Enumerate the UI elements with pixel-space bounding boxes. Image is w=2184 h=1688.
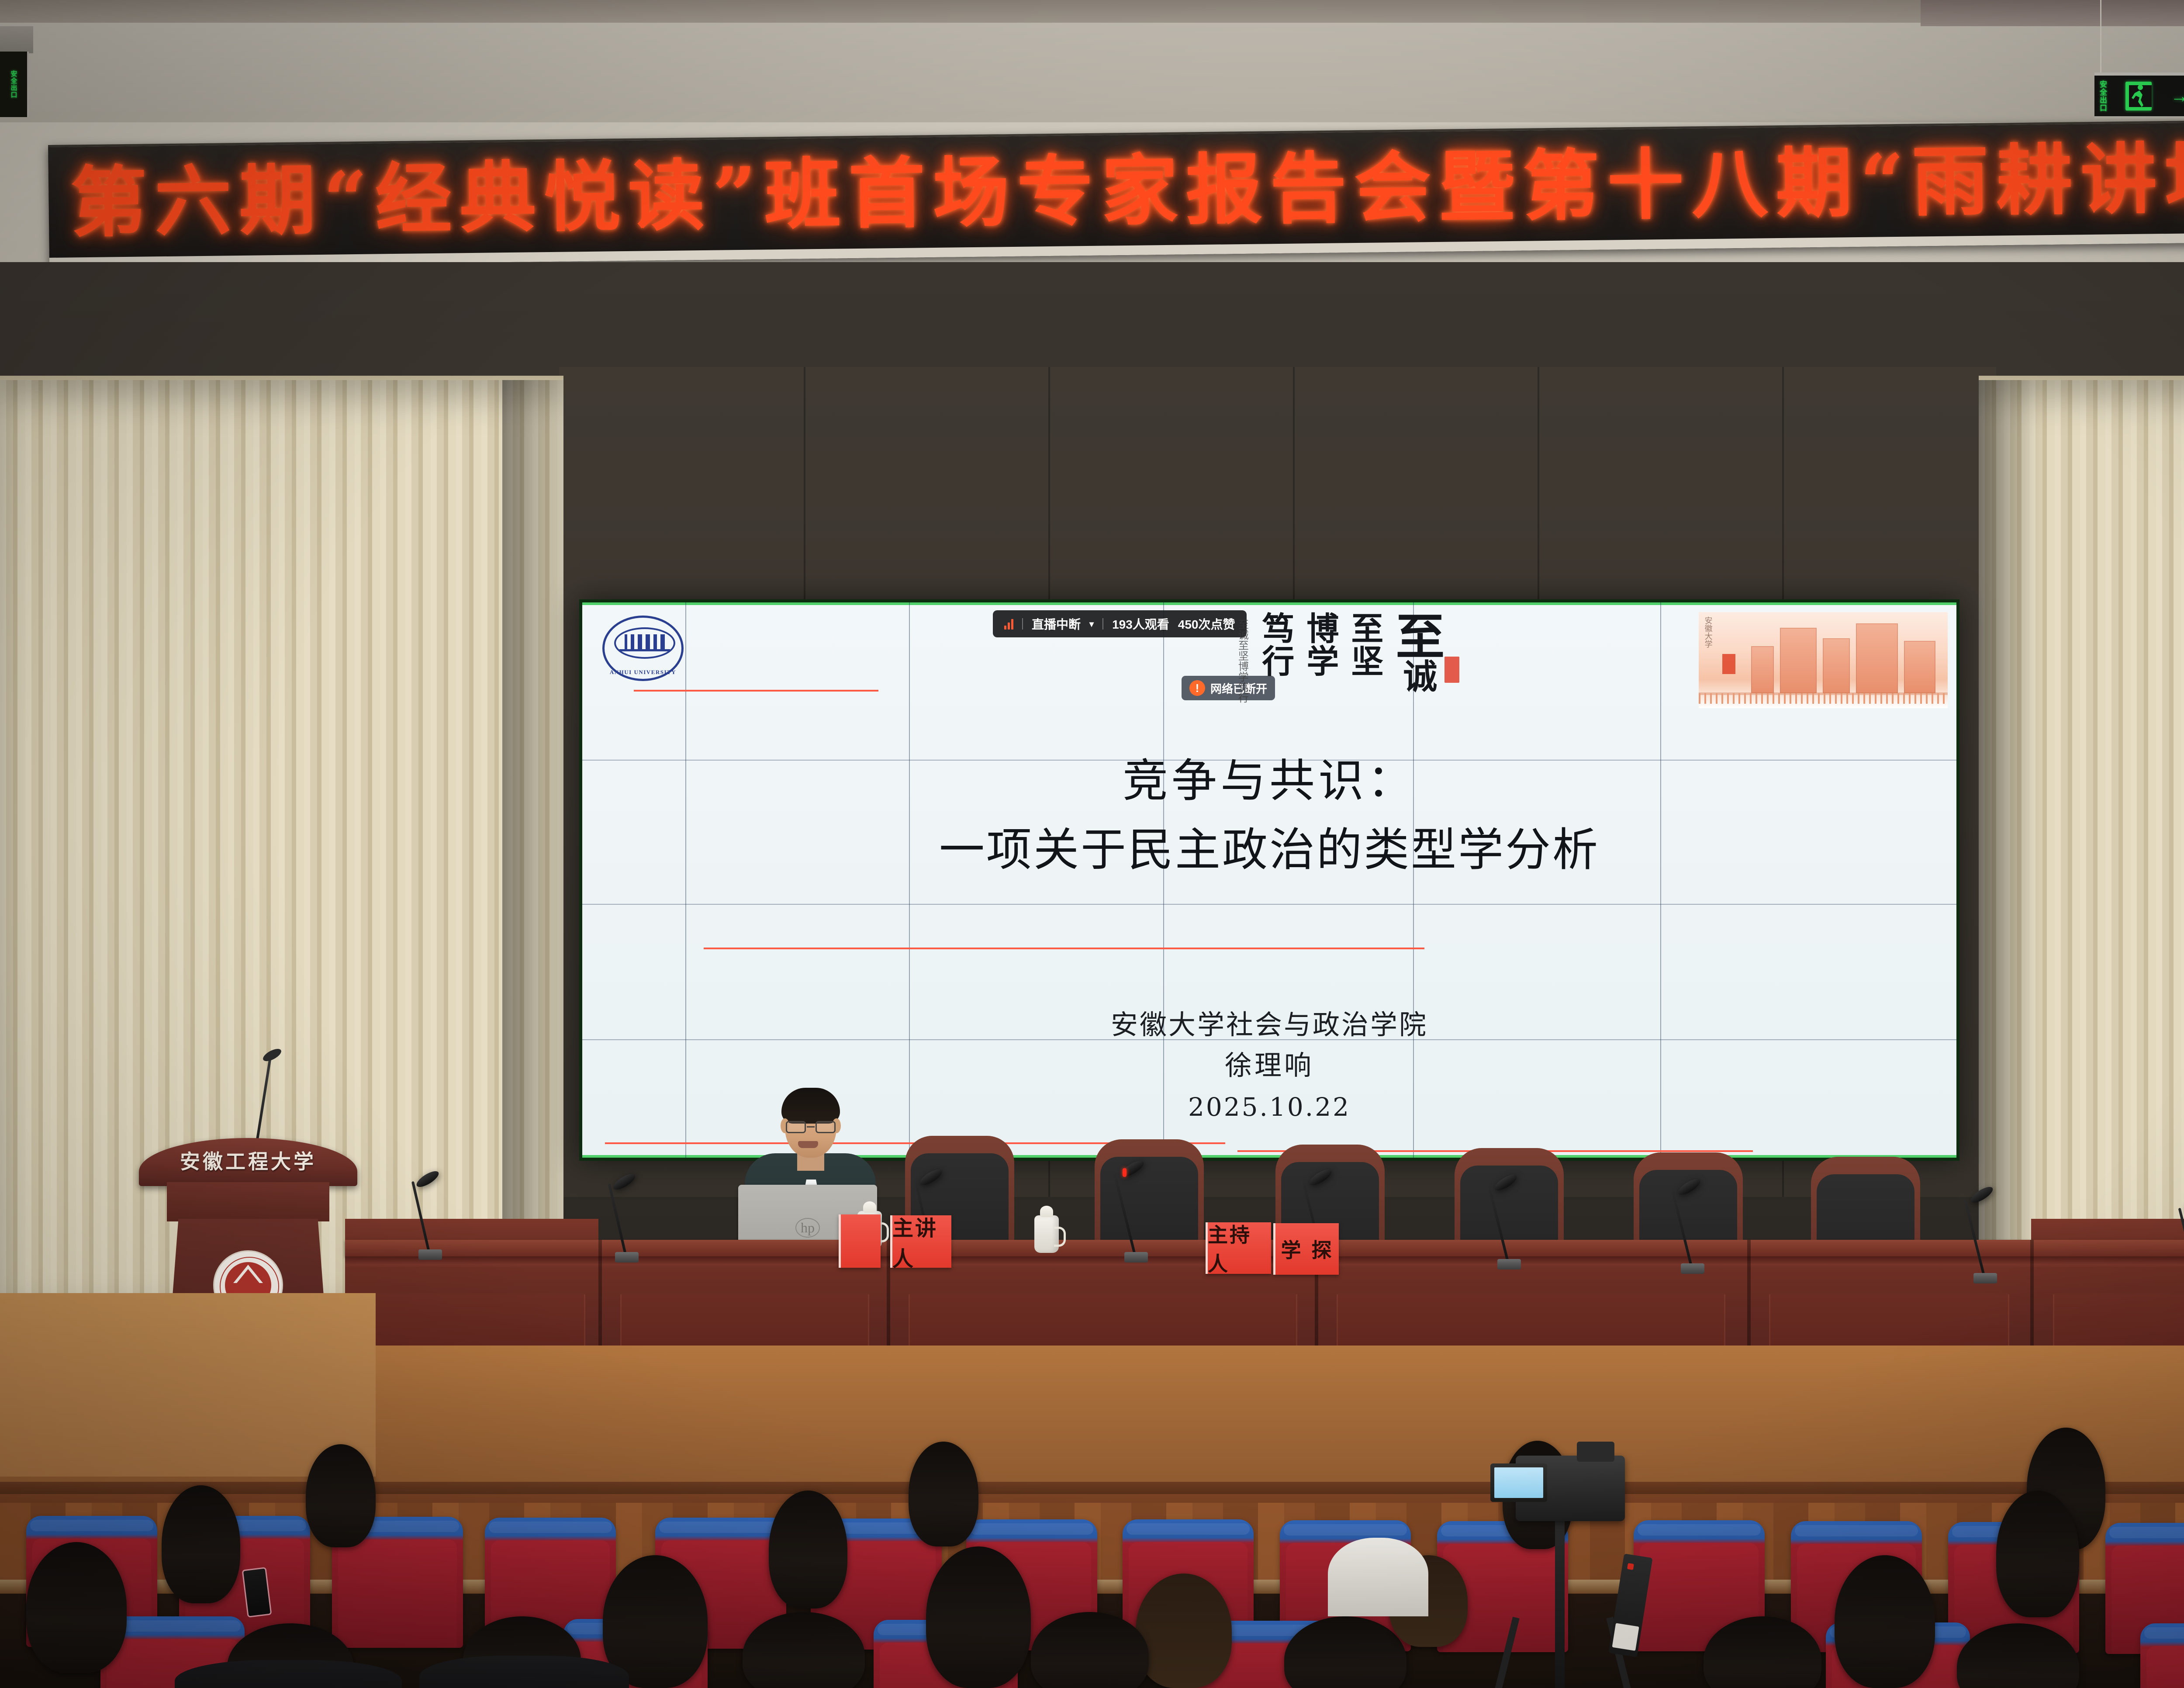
lecture-hall-photo: 安全出口 第六期“经典悦读”班首场专家报告会暨第十八期“雨耕讲坛”讲座 安全出口 [0,0,2184,1688]
livestream-toolbar[interactable]: 直播中断 ▾ 193人观看 450次点赞 [993,610,1247,637]
exit-sign-left: 安全出口 [0,52,29,117]
audience-seat [2140,1623,2184,1688]
audience-head [909,1442,978,1546]
podium-neck [167,1182,329,1221]
motto-column: 笃 行 [1262,613,1294,679]
exit-sign-text: 安全出口 [2099,80,2106,112]
hp-logo-icon: hp [795,1218,820,1238]
stage-floor-left [0,1293,376,1477]
exit-sign-wires [2097,0,2184,79]
audience-head [306,1444,376,1547]
name-card-host: 主持人 [1206,1222,1271,1274]
ceiling-soffit [0,0,2184,23]
slide-title-line1: 竞争与共识： [582,747,1956,815]
slide-organization: 安徽大学社会与政治学院 [582,1004,1956,1045]
curtain-shadow [1979,380,2040,1293]
seal-english-text: ANHUI UNIVERSITY [605,669,681,676]
record-indicator-icon [1627,1563,1634,1570]
audience-head [1996,1491,2079,1617]
audience-shoulders [419,1656,629,1688]
divider [1102,618,1103,630]
motto-column: 至 诚 [1396,613,1444,694]
exit-sign-left-label: 安全出口 [9,70,18,98]
campus-caption: 安徽大学 [1703,616,1713,648]
slide-title-block: 竞争与共识： 一项关于民主政治的类型学分析 [582,747,1956,885]
university-motto-calligraphy: 至诚至坚博学笃行 笃 行 博 学 至 坚 至 诚 [1237,613,1525,703]
audience-shoulders [175,1660,402,1688]
audience-head [1835,1555,1935,1688]
exit-sign: 安全出口 → [2094,73,2184,118]
camera-handle [1577,1442,1614,1462]
motto-signature: 至诚至坚博学笃行 [1237,619,1248,703]
audience-shoulders [1328,1538,1428,1616]
audience-head [26,1542,127,1673]
seal-stamp-icon [1444,657,1459,683]
campus-stamp-icon [1722,654,1735,674]
name-card-speaker-blank [839,1214,881,1268]
led-banner-text: 第六期“经典悦读”班首场专家报告会暨第十八期“雨耕讲坛”讲座 [70,135,2184,245]
signal-bars-icon [1004,618,1013,630]
teacup [1034,1215,1059,1253]
audience-head [769,1491,847,1608]
name-card-speaker: 主讲人 [890,1215,951,1268]
audience-head [1136,1574,1232,1688]
tripod-column [1555,1512,1565,1688]
glasses-icon [785,1121,836,1134]
curtain-shadow [502,380,563,1293]
running-man-icon [2123,81,2154,111]
slide-title-line2: 一项关于民主政治的类型学分析 [582,815,1956,885]
livestream-status: 直播中断 [1032,615,1081,633]
chevron-down-icon[interactable]: ▾ [1089,619,1094,630]
alert-icon: ! [1189,680,1205,696]
livestream-viewers: 193人观看 [1112,615,1169,633]
audience-head [162,1485,240,1603]
camera-lcd-screen [1490,1463,1547,1502]
campus-photo-strip: 安徽大学 [1699,612,1948,708]
motto-column: 博 学 [1306,613,1339,679]
name-card-host-name: 学 探 [1273,1223,1339,1275]
anhui-university-seal-icon: ANHUI UNIVERSITY [602,616,684,681]
exit-sign-bracket [0,26,33,53]
podium-header-text: 安徽工程大学 [180,1146,316,1175]
livestream-likes: 450次点赞 [1178,615,1235,633]
motto-column: 至 坚 [1351,613,1383,679]
divider [1022,618,1023,630]
audience-head [926,1546,1031,1688]
exit-arrow-icon: → [2170,87,2184,105]
